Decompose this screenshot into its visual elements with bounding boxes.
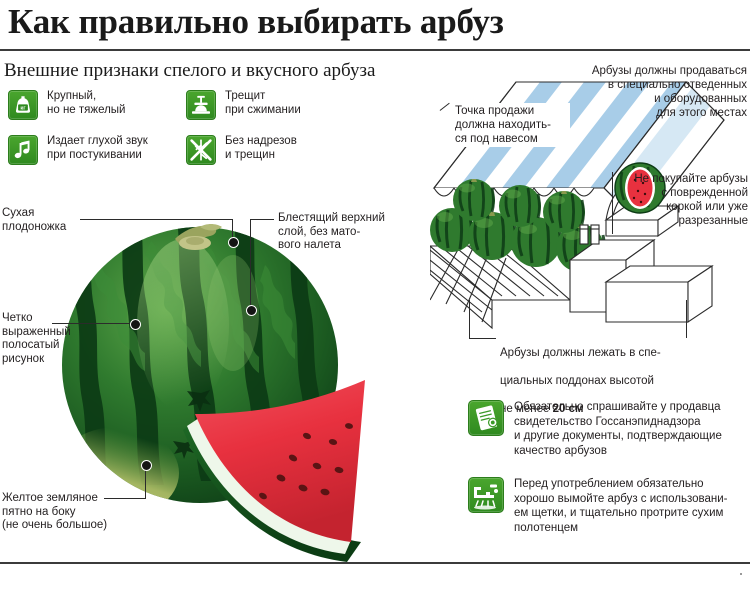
leader-line-glossy-surface-vert (250, 219, 251, 309)
callout-yellow-spot-label: Желтое земляное пятно на боку (не очень … (2, 492, 107, 533)
leader-line-dry-stem (80, 219, 233, 220)
title-divider (0, 49, 750, 51)
feature-item-large-not-heavy: кг Крупный, но не тяжелый (8, 90, 125, 120)
pallets-line-1: Арбузы должны лежать в спе- (500, 347, 661, 359)
feature-label: Издает глухой звук при постукивании (47, 135, 148, 162)
leader-line-no-damaged (612, 172, 613, 234)
feature-label: Трещит при сжимании (225, 90, 301, 117)
leader-line-pallets-vert-right (686, 300, 687, 338)
feature-label: Крупный, но не тяжелый (47, 90, 125, 117)
leader-dot-dry-stem (228, 237, 239, 248)
wash-faucet-icon (468, 477, 504, 513)
press-squeeze-icon (186, 90, 216, 120)
callout-dry-stem-label: Сухая плодоножка (2, 207, 66, 234)
leader-line-pallets (470, 338, 496, 339)
svg-text:кг: кг (20, 106, 26, 112)
infographic-root: Как правильно выбирать арбуз Внешние при… (0, 0, 750, 589)
feature-label: Без надрезов и трещин (225, 135, 297, 162)
leader-line-glossy-surface (251, 219, 274, 220)
feature-item-dull-sound: Издает глухой звук при постукивании (8, 135, 148, 165)
pallets-line-2: циальных поддонах высотой (500, 375, 654, 387)
callout-striped-pattern-label: Четко выраженный полосатый рисунок (2, 312, 71, 366)
weight-kg-icon: кг (8, 90, 38, 120)
footer-divider (0, 562, 750, 564)
leader-line-yellow-spot (104, 498, 146, 499)
advice-text: Обязательно спрашивайте у продавца свиде… (514, 400, 722, 458)
advice-item-wash: Перед употреблением обязательно хорошо в… (468, 477, 748, 535)
leader-dot-striped-pattern (130, 319, 141, 330)
footer-mark (740, 573, 742, 575)
advice-text: Перед употреблением обязательно хорошо в… (514, 477, 728, 535)
certificate-document-icon (468, 400, 504, 436)
watermelon-slice-illustration (175, 370, 365, 565)
no-cracks-icon (186, 135, 216, 165)
feature-item-no-cuts-cracks: Без надрезов и трещин (186, 135, 297, 165)
callout-glossy-surface-label: Блестящий верхний слой, без мато- вого н… (278, 212, 385, 253)
feature-item-cracks-when-squeezed: Трещит при сжимании (186, 90, 301, 120)
section-subtitle: Внешние признаки спелого и вкусного арбу… (4, 60, 375, 82)
leader-dot-yellow-spot (141, 460, 152, 471)
market-text-designated-places: Арбузы должны продаваться в специально о… (555, 64, 747, 120)
leader-line-yellow-spot-vert (145, 467, 146, 499)
leader-line-striped-pattern (52, 323, 134, 324)
market-text-under-canopy: Точка продажи должна находить- ся под на… (452, 103, 570, 147)
leader-line-pallets-vert (469, 300, 470, 339)
leader-dot-glossy-surface (246, 305, 257, 316)
advice-item-certificate: Обязательно спрашивайте у продавца свиде… (468, 400, 748, 458)
market-text-no-damaged: Не покупайте арбузы с поврежденной корко… (618, 172, 748, 228)
music-note-icon (8, 135, 38, 165)
page-title: Как правильно выбирать арбуз (8, 2, 504, 42)
